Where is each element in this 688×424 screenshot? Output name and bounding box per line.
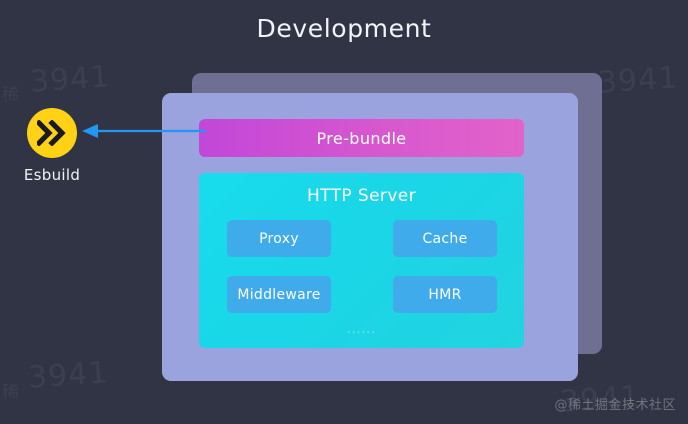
prebundle-label: Pre-bundle <box>316 129 406 148</box>
service-label: HMR <box>428 287 461 303</box>
service-box-proxy[interactable]: Proxy <box>227 220 331 257</box>
brand-watermark: @稀土掘金技术社区 <box>554 394 676 413</box>
arrow-prebundle-to-esbuild <box>78 118 206 144</box>
service-grid: Proxy Cache Middleware HMR <box>227 220 497 313</box>
esbuild-logo[interactable] <box>27 108 77 158</box>
esbuild-label: Esbuild <box>14 166 90 184</box>
watermark-number: 3941 <box>27 355 110 396</box>
service-box-middleware[interactable]: Middleware <box>227 276 331 313</box>
service-label: Proxy <box>259 231 299 247</box>
watermark-cn: 稀 <box>2 80 19 105</box>
service-box-hmr[interactable]: HMR <box>393 276 497 313</box>
esbuild-node[interactable]: Esbuild <box>14 108 90 184</box>
watermark-cn: 稀 <box>2 378 19 403</box>
http-server-block[interactable]: HTTP Server Proxy Cache Middleware HMR .… <box>199 173 524 348</box>
page-title: Development <box>0 14 688 43</box>
watermark-number: 3941 <box>597 60 680 101</box>
ellipsis-indicator: ...... <box>199 322 524 336</box>
service-label: Middleware <box>237 287 320 303</box>
service-box-cache[interactable]: Cache <box>393 220 497 257</box>
http-server-label: HTTP Server <box>199 186 524 206</box>
diagram-canvas: 3941 稀 3941 3941 稀 3941 @稀土掘金技术社区 Develo… <box>0 0 688 424</box>
double-chevron-right-icon <box>37 120 67 146</box>
panel-front-layer: Pre-bundle HTTP Server Proxy Cache Middl… <box>162 93 578 381</box>
watermark-number: 3941 <box>29 59 112 100</box>
prebundle-block[interactable]: Pre-bundle <box>199 119 524 157</box>
service-label: Cache <box>422 231 467 247</box>
